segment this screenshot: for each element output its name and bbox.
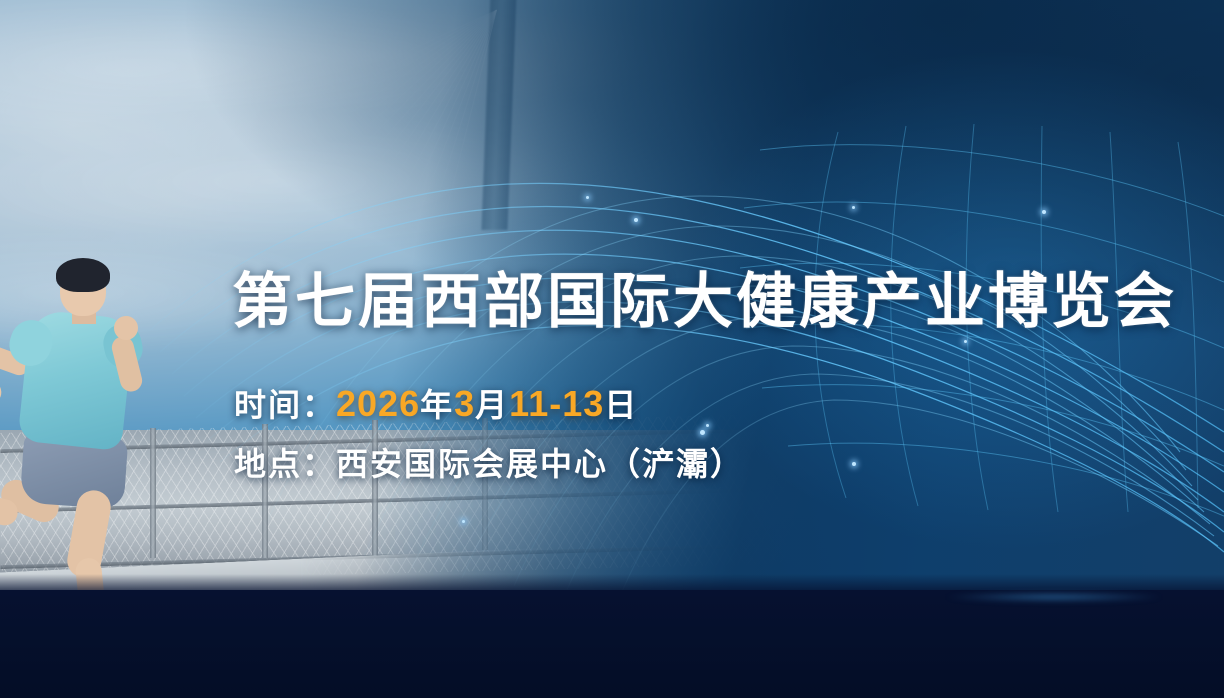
date-month-unit: 月 (475, 387, 509, 423)
event-meta: 时间：2026年3月11-13日 地点：西安国际会展中心（浐灞） (234, 372, 744, 493)
date-year: 2026 (336, 383, 420, 424)
expo-promo-banner: 第七届西部国际大健康产业博览会 时间：2026年3月11-13日 地点：西安国际… (0, 0, 1224, 698)
banner-content: 第七届西部国际大健康产业博览会 时间：2026年3月11-13日 地点：西安国际… (0, 0, 1224, 698)
date-label: 时间： (234, 387, 336, 423)
date-year-unit: 年 (420, 387, 454, 423)
date-day-unit: 日 (604, 387, 638, 423)
venue-value: 西安国际会展中心（浐灞） (336, 446, 744, 482)
date-month: 3 (454, 383, 475, 424)
venue-label: 地点： (234, 446, 336, 482)
event-venue-line: 地点：西安国际会展中心（浐灞） (234, 436, 744, 493)
date-days: 11-13 (509, 383, 604, 424)
page-title: 第七届西部国际大健康产业博览会 (232, 253, 1177, 340)
event-date-line: 时间：2026年3月11-13日 (234, 372, 744, 436)
